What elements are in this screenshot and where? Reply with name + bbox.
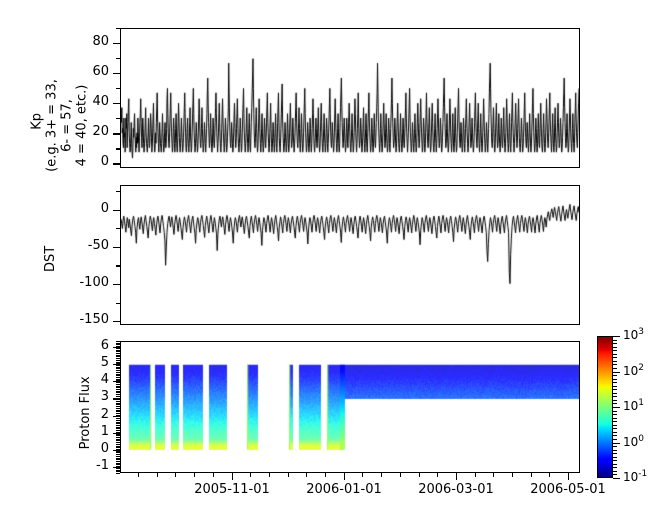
proton-flux-minor-tick	[116, 456, 120, 457]
proton-flux-minor-tick	[116, 380, 120, 381]
colorbar-minor-tick	[613, 393, 617, 394]
colorbar-minor-tick	[613, 375, 617, 376]
colorbar-tick-label: 10-1	[623, 469, 647, 484]
colorbar-minor-tick	[613, 414, 617, 415]
x-minor-tick	[419, 473, 420, 477]
colorbar-minor-tick	[613, 439, 617, 440]
proton-flux-minor-tick	[116, 449, 120, 450]
x-minor-tick	[437, 473, 438, 477]
x-minor-tick	[400, 473, 401, 477]
kp-tick-label: 80	[0, 34, 109, 49]
x-minor-tick	[512, 473, 513, 477]
colorbar-minor-tick	[613, 446, 617, 447]
x-minor-tick	[531, 473, 532, 477]
proton-flux-tick-label: 5	[0, 355, 109, 370]
colorbar-minor-tick	[613, 364, 617, 365]
x-tick-label: 2006-05-01	[523, 482, 613, 497]
kp-minor-tick	[116, 148, 120, 149]
proton-flux-minor-tick	[116, 434, 120, 435]
proton-flux-minor-tick	[116, 422, 120, 423]
x-minor-tick	[175, 473, 176, 477]
kp-major-tick	[113, 43, 120, 44]
x-major-tick	[344, 473, 345, 480]
colorbar-tick-label: 101	[623, 398, 644, 413]
dst-panel	[120, 185, 580, 325]
proton-flux-minor-tick	[116, 432, 120, 433]
proton-flux-minor-tick	[116, 404, 120, 405]
colorbar-minor-tick	[613, 421, 617, 422]
x-minor-tick	[549, 473, 550, 477]
dst-major-tick	[113, 247, 120, 248]
colorbar-minor-tick	[613, 396, 617, 397]
colorbar-major-tick	[613, 443, 620, 444]
x-minor-tick	[250, 473, 251, 477]
colorbar-minor-tick	[613, 400, 617, 401]
proton-flux-minor-tick	[116, 463, 120, 464]
x-minor-tick	[306, 473, 307, 477]
proton-flux-minor-tick	[116, 425, 120, 426]
proton-flux-minor-tick	[116, 473, 120, 474]
x-minor-tick	[381, 473, 382, 477]
dst-minor-tick	[116, 228, 120, 229]
proton-flux-minor-tick	[116, 387, 120, 388]
colorbar-minor-tick	[613, 382, 617, 383]
proton-flux-minor-tick	[116, 470, 120, 471]
x-major-tick	[232, 473, 233, 480]
proton-flux-tick-label: 1	[0, 424, 109, 439]
x-minor-tick	[288, 473, 289, 477]
proton-flux-minor-tick	[116, 398, 120, 399]
colorbar-minor-tick	[613, 467, 617, 468]
colorbar-minor-tick	[613, 457, 617, 458]
colorbar-minor-tick	[613, 361, 617, 362]
colorbar-minor-tick	[613, 340, 617, 341]
kp-series-plot	[121, 29, 579, 167]
dst-minor-tick	[116, 265, 120, 266]
proton-flux-minor-tick	[116, 413, 120, 414]
proton-flux-tick-label: 2	[0, 407, 109, 422]
x-minor-tick	[325, 473, 326, 477]
colorbar-minor-tick	[613, 411, 617, 412]
colorbar-minor-tick	[613, 403, 617, 404]
proton-flux-minor-tick	[116, 392, 120, 393]
proton-flux-minor-tick	[116, 468, 120, 469]
dst-tick-label: 0	[0, 201, 109, 216]
dst-tick-label: -50	[0, 238, 109, 253]
colorbar-minor-tick	[613, 425, 617, 426]
colorbar-minor-tick	[613, 428, 617, 429]
colorbar-minor-tick	[613, 347, 617, 348]
x-major-tick	[568, 473, 569, 480]
proton-flux-minor-tick	[116, 464, 120, 465]
colorbar-minor-tick	[613, 357, 617, 358]
proton-flux-minor-tick	[116, 466, 120, 467]
proton-flux-minor-tick	[116, 461, 120, 462]
proton-flux-minor-tick	[116, 408, 120, 409]
proton-flux-minor-tick	[116, 437, 120, 438]
proton-flux-tick-label: -1	[0, 458, 109, 473]
colorbar-minor-tick	[613, 460, 617, 461]
proton-flux-minor-tick	[116, 356, 120, 357]
kp-minor-tick	[116, 28, 120, 29]
colorbar-minor-tick	[613, 435, 617, 436]
colorbar-minor-tick	[613, 379, 617, 380]
proton-flux-minor-tick	[116, 348, 120, 349]
kp-minor-tick	[116, 58, 120, 59]
proton-flux-minor-tick	[116, 346, 120, 347]
colorbar-tick-label: 103	[623, 327, 644, 342]
proton-flux-minor-tick	[116, 396, 120, 397]
proton-flux-minor-tick	[116, 365, 120, 366]
proton-flux-minor-tick	[116, 360, 120, 361]
x-minor-tick	[138, 473, 139, 477]
colorbar-minor-tick	[613, 354, 617, 355]
kp-major-tick	[113, 73, 120, 74]
x-tick-label: 2006-01-01	[299, 482, 389, 497]
colorbar-minor-tick	[613, 474, 617, 475]
proton-flux-minor-tick	[116, 377, 120, 378]
proton-flux-minor-tick	[116, 374, 120, 375]
kp-minor-tick	[116, 118, 120, 119]
proton-flux-minor-tick	[116, 430, 120, 431]
colorbar-minor-tick	[613, 450, 617, 451]
kp-tick-label: 60	[0, 64, 109, 79]
dst-major-tick	[113, 284, 120, 285]
x-major-tick	[456, 473, 457, 480]
x-minor-tick	[269, 473, 270, 477]
x-minor-tick	[475, 473, 476, 477]
proton-flux-minor-tick	[116, 440, 120, 441]
colorbar-minor-tick	[613, 471, 617, 472]
proton-flux-minor-tick	[116, 350, 120, 351]
proton-flux-minor-tick	[116, 471, 120, 472]
dst-tick-label: -100	[0, 275, 109, 290]
proton-flux-minor-tick	[116, 403, 120, 404]
proton-flux-minor-tick	[116, 435, 120, 436]
colorbar-minor-tick	[613, 368, 617, 369]
proton-flux-minor-tick	[116, 401, 120, 402]
proton-flux-minor-tick	[116, 420, 120, 421]
proton-flux-minor-tick	[116, 370, 120, 371]
colorbar-minor-tick	[613, 453, 617, 454]
colorbar-minor-tick	[613, 432, 617, 433]
proton-flux-minor-tick	[116, 459, 120, 460]
x-tick-label: 2005-11-01	[187, 482, 277, 497]
proton-flux-minor-tick	[116, 379, 120, 380]
dst-series-plot	[121, 186, 579, 324]
proton-flux-minor-tick	[116, 458, 120, 459]
x-minor-tick	[157, 473, 158, 477]
colorbar-minor-tick	[613, 418, 617, 419]
x-minor-tick	[194, 473, 195, 477]
colorbar-major-tick	[613, 336, 620, 337]
proton-flux-minor-tick	[116, 415, 120, 416]
proton-flux-minor-tick	[116, 427, 120, 428]
proton-flux-minor-tick	[116, 394, 120, 395]
proton-flux-minor-tick	[116, 446, 120, 447]
proton-flux-minor-tick	[116, 454, 120, 455]
proton-flux-spectrogram	[121, 342, 579, 472]
x-minor-tick	[213, 473, 214, 477]
proton-flux-minor-tick	[116, 375, 120, 376]
proton-flux-minor-tick	[116, 372, 120, 373]
proton-flux-minor-tick	[116, 386, 120, 387]
kp-major-tick	[113, 133, 120, 134]
proton-flux-minor-tick	[116, 451, 120, 452]
proton-flux-minor-tick	[116, 384, 120, 385]
colorbar-minor-tick	[613, 350, 617, 351]
proton-flux-tick-label: 6	[0, 338, 109, 353]
proton-flux-minor-tick	[116, 363, 120, 364]
proton-flux-minor-tick	[116, 367, 120, 368]
proton-flux-minor-tick	[116, 418, 120, 419]
proton-flux-minor-tick	[116, 411, 120, 412]
proton-flux-minor-tick	[116, 351, 120, 352]
proton-flux-minor-tick	[116, 353, 120, 354]
colorbar-tick-label: 100	[623, 434, 644, 449]
colorbar-minor-tick	[613, 389, 617, 390]
proton-flux-minor-tick	[116, 447, 120, 448]
colorbar-major-tick	[613, 407, 620, 408]
kp-panel	[120, 28, 580, 168]
colorbar-minor-tick	[613, 464, 617, 465]
dst-minor-tick	[116, 303, 120, 304]
proton-flux-panel	[120, 341, 580, 473]
colorbar	[597, 336, 613, 478]
proton-flux-minor-tick	[116, 382, 120, 383]
x-tick-label: 2006-03-01	[411, 482, 501, 497]
dst-major-tick	[113, 210, 120, 211]
proton-flux-tick-label: 3	[0, 389, 109, 404]
kp-tick-label: 40	[0, 94, 109, 109]
kp-tick-label: 0	[0, 154, 109, 169]
dst-minor-tick	[116, 191, 120, 192]
proton-flux-minor-tick	[116, 344, 120, 345]
dst-major-tick	[113, 321, 120, 322]
colorbar-major-tick	[613, 372, 620, 373]
proton-flux-minor-tick	[116, 389, 120, 390]
proton-flux-minor-tick	[116, 406, 120, 407]
x-minor-tick	[493, 473, 494, 477]
kp-major-tick	[113, 103, 120, 104]
colorbar-major-tick	[613, 478, 620, 479]
proton-flux-minor-tick	[116, 410, 120, 411]
x-minor-tick	[362, 473, 363, 477]
proton-flux-minor-tick	[116, 391, 120, 392]
kp-major-tick	[113, 163, 120, 164]
proton-flux-minor-tick	[116, 362, 120, 363]
proton-flux-minor-tick	[116, 442, 120, 443]
proton-flux-minor-tick	[116, 399, 120, 400]
proton-flux-minor-tick	[116, 355, 120, 356]
proton-flux-tick-label: 0	[0, 441, 109, 456]
colorbar-tick-label: 102	[623, 363, 644, 378]
colorbar-minor-tick	[613, 343, 617, 344]
proton-flux-tick-label: 4	[0, 372, 109, 387]
proton-flux-minor-tick	[116, 428, 120, 429]
proton-flux-minor-tick	[116, 368, 120, 369]
colorbar-minor-tick	[613, 386, 617, 387]
proton-flux-minor-tick	[116, 439, 120, 440]
dst-tick-label: -150	[0, 312, 109, 327]
proton-flux-minor-tick	[116, 452, 120, 453]
proton-flux-minor-tick	[116, 341, 120, 342]
kp-minor-tick	[116, 88, 120, 89]
proton-flux-minor-tick	[116, 416, 120, 417]
proton-flux-minor-tick	[116, 444, 120, 445]
proton-flux-minor-tick	[116, 343, 120, 344]
kp-tick-label: 20	[0, 124, 109, 139]
proton-flux-minor-tick	[116, 358, 120, 359]
proton-flux-minor-tick	[116, 423, 120, 424]
